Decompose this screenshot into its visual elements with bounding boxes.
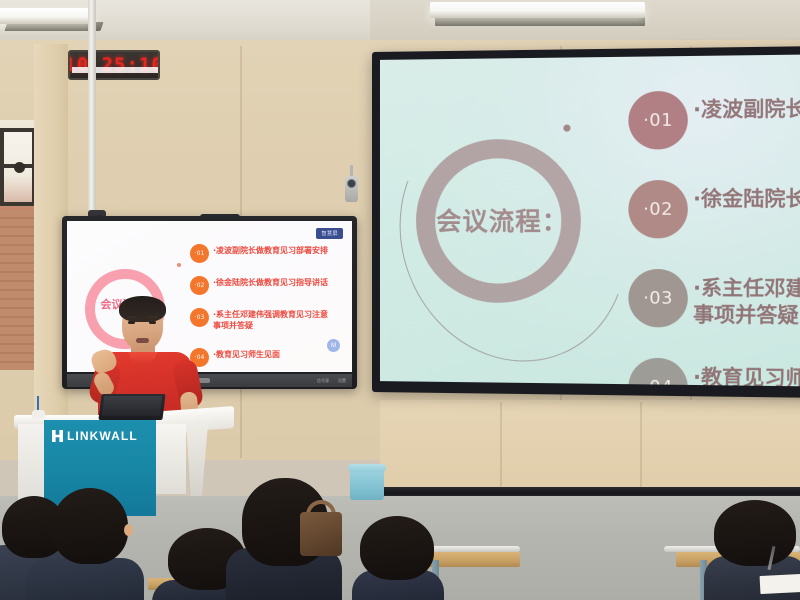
- agenda-list: ·01 ·凌波副院长做教育见习部署安排 ·02 ·徐金陆院长做教育见习指导讲话 …: [190, 244, 350, 372]
- presenter-eyebrow: [127, 316, 137, 318]
- arc-endpoint-dot: [177, 263, 181, 267]
- podium-brand-logo: LINKWALL: [52, 428, 150, 444]
- camera-lens-icon: [347, 179, 356, 188]
- laptop-screen: [102, 396, 162, 416]
- agenda-text: ·徐金陆院长做教育: [693, 185, 800, 212]
- window-lattice-dot: [14, 162, 25, 173]
- agenda-item: ·01 ·凌波副院长做教育见习部署安排: [190, 244, 350, 268]
- waste-bin-lid: [348, 464, 386, 472]
- wall-seam: [500, 402, 502, 488]
- led-wall-clock: 10 25:10: [68, 50, 160, 80]
- presenter-eye: [149, 321, 156, 324]
- agenda-badge: ·03: [190, 308, 209, 327]
- clock-glare: [72, 67, 160, 73]
- presenter-mouth: [136, 338, 149, 343]
- agenda-text: ·教育见习师生见面: [693, 364, 800, 386]
- wall-lower-panel: [380, 400, 800, 490]
- agenda-text: ·凌波副院长做教育见习部署安排: [213, 246, 352, 257]
- lecture-room-photo: 10 25:10 会议流程： ·01 ·凌波副院长做教育 ·02 ·徐金陆院长做…: [0, 0, 800, 600]
- agenda-item: ·01 ·凌波副院长做教育: [628, 89, 800, 153]
- vertical-pole: [88, 0, 96, 210]
- paper-sheet: [760, 574, 800, 594]
- agenda-text: ·系主任邓建伟强调 事项并答疑: [693, 275, 800, 329]
- agenda-item: ·04 ·教育见习师生见面: [190, 348, 350, 372]
- slide-nav-button[interactable]: M: [327, 339, 340, 352]
- agenda-text: ·徐金陆院长做教育见习指导讲话: [213, 278, 352, 289]
- exterior-brick-wall: [0, 210, 36, 370]
- control-label-source: 信号源: [317, 378, 329, 384]
- handbag: [300, 512, 342, 556]
- agenda-badge: ·01: [628, 91, 687, 150]
- agenda-item: ·03 ·系主任邓建伟强调教育见习注意 事项并答疑: [190, 308, 350, 340]
- wall-seam: [640, 402, 642, 488]
- linkwall-logo-icon: [52, 430, 63, 442]
- ceiling-light-housing: [435, 17, 645, 26]
- arc-endpoint-dot: [563, 125, 570, 132]
- podium-leg: [186, 424, 208, 496]
- presenter-eyebrow: [148, 316, 158, 318]
- agenda-badge: ·03: [628, 269, 687, 328]
- slide-title: 会议流程：: [426, 202, 579, 239]
- podium-mic-base: [32, 410, 45, 419]
- agenda-text: ·系主任邓建伟强调教育见习注意 事项并答疑: [213, 310, 352, 332]
- podium-brand-text: LINKWALL: [67, 429, 138, 443]
- wall-camera-icon: [345, 176, 358, 202]
- agenda-badge: ·02: [190, 276, 209, 295]
- window-lattice-icon: [0, 128, 36, 206]
- ceiling-light-right: [430, 2, 645, 18]
- agenda-item: ·02 ·徐金陆院长做教育: [628, 179, 800, 241]
- projection-screen: 会议流程： ·01 ·凌波副院长做教育 ·02 ·徐金陆院长做教育 ·03 ·系…: [372, 46, 800, 398]
- control-label-settings: 设置: [338, 378, 346, 384]
- presenter-eye: [128, 321, 135, 324]
- agenda-item: ·03 ·系主任邓建伟强调 事项并答疑: [628, 269, 800, 332]
- agenda-badge: ·02: [628, 180, 687, 238]
- agenda-badge: ·01: [190, 244, 209, 263]
- agenda-text: ·凌波副院长做教育: [693, 95, 800, 123]
- podium-right-side: [156, 424, 186, 494]
- smartboard-watermark: 智慧屏: [316, 228, 343, 239]
- agenda-list: ·01 ·凌波副院长做教育 ·02 ·徐金陆院长做教育 ·03 ·系主任邓建伟强…: [628, 89, 800, 387]
- presenter-hair: [119, 296, 166, 322]
- projection-slide: 会议流程： ·01 ·凌波副院长做教育 ·02 ·徐金陆院长做教育 ·03 ·系…: [380, 54, 800, 386]
- smartboard-slide: 智慧屏 会议流程： ·01 ·凌波副院长做教育见习部署安排 ·02 ·徐金陆院长…: [67, 221, 352, 372]
- ceiling-light-left: [0, 8, 96, 24]
- agenda-item: ·02 ·徐金陆院长做教育见习指导讲话: [190, 276, 350, 300]
- agenda-item: ·04 ·教育见习师生见面: [628, 358, 800, 387]
- agenda-badge: ·04: [628, 358, 687, 387]
